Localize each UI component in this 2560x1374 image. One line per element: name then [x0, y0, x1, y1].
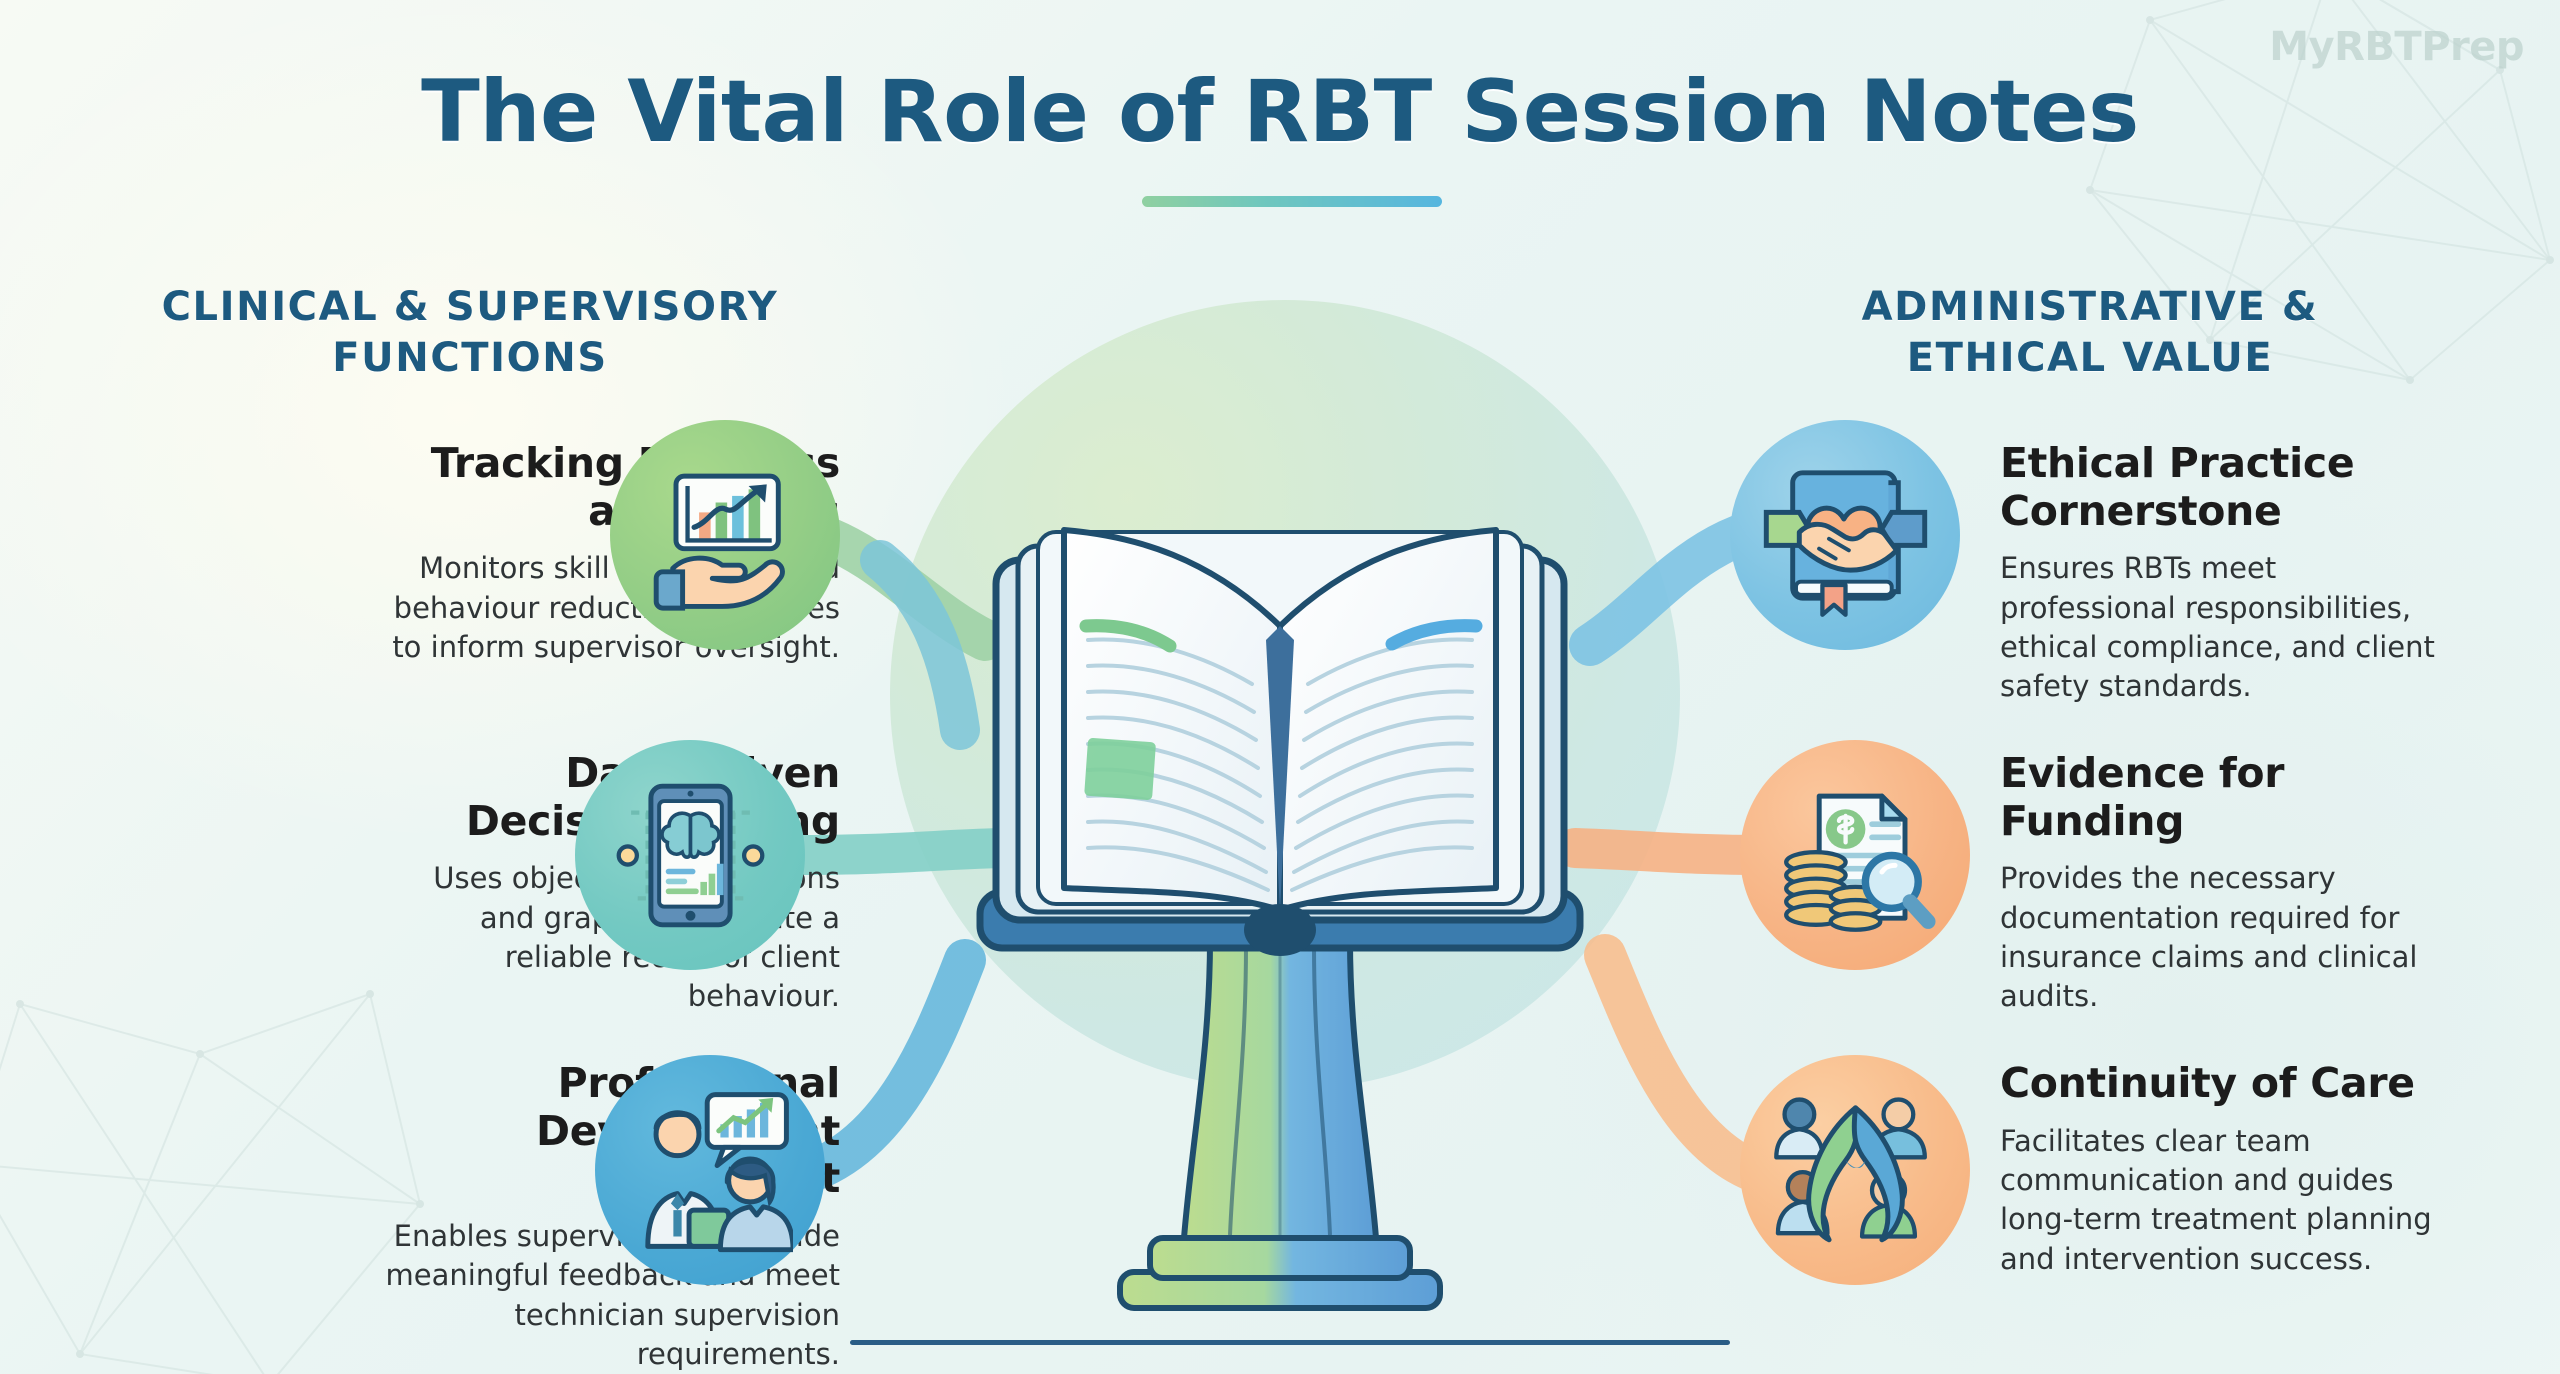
- item-title: Continuity of Care: [2000, 1060, 2470, 1108]
- care-team-ribbon-icon: [1740, 1055, 1970, 1285]
- right-heading-line-1: ADMINISTRATIVE &: [1862, 284, 2319, 330]
- list-item[interactable]: Continuity of Care Facilitates clear tea…: [1720, 1060, 2480, 1330]
- hand-holding-growth-chart-icon: [610, 420, 840, 650]
- item-body: Ensures RBTs meet professional responsib…: [2000, 549, 2460, 707]
- open-book-on-pedestal-icon: [960, 440, 1600, 1340]
- list-item[interactable]: Tracking Progress and Trends Monitors sk…: [100, 440, 840, 670]
- list-item[interactable]: Evidence for Funding Provides the necess…: [1720, 750, 2480, 990]
- coins-invoice-magnifier-icon: [1740, 740, 1970, 970]
- item-title: Evidence for Funding: [2000, 750, 2470, 845]
- list-item[interactable]: Data-Driven Decision Making Uses objecti…: [100, 750, 840, 980]
- left-heading-line-1: CLINICAL & SUPERVISORY: [162, 284, 779, 330]
- handshake-book-heart-icon: [1730, 420, 1960, 650]
- title-underline-accent: [1142, 196, 1442, 207]
- left-heading-line-2: FUNCTIONS: [332, 335, 608, 381]
- two-clinicians-chart-bubble-icon: [595, 1055, 825, 1285]
- bottom-divider-rule: [850, 1340, 1730, 1345]
- left-column-heading: CLINICAL & SUPERVISORY FUNCTIONS: [130, 282, 810, 384]
- right-heading-line-2: ETHICAL VALUE: [1907, 335, 2274, 381]
- tablet-brain-analytics-icon: [575, 740, 805, 970]
- list-item[interactable]: Ethical Practice Cornerstone Ensures RBT…: [1720, 440, 2480, 670]
- item-title: Ethical Practice Cornerstone: [2000, 440, 2460, 535]
- right-column-heading: ADMINISTRATIVE & ETHICAL VALUE: [1750, 282, 2430, 384]
- item-body: Provides the necessary documentation req…: [2000, 859, 2470, 1017]
- list-item[interactable]: Professional Development Support Enables…: [100, 1060, 840, 1330]
- item-body: Facilitates clear team communication and…: [2000, 1122, 2470, 1280]
- page-title: The Vital Role of RBT Session Notes: [0, 62, 2560, 162]
- infographic-canvas: MyRBTPrep The Vital Role of RBT Session …: [0, 0, 2560, 1374]
